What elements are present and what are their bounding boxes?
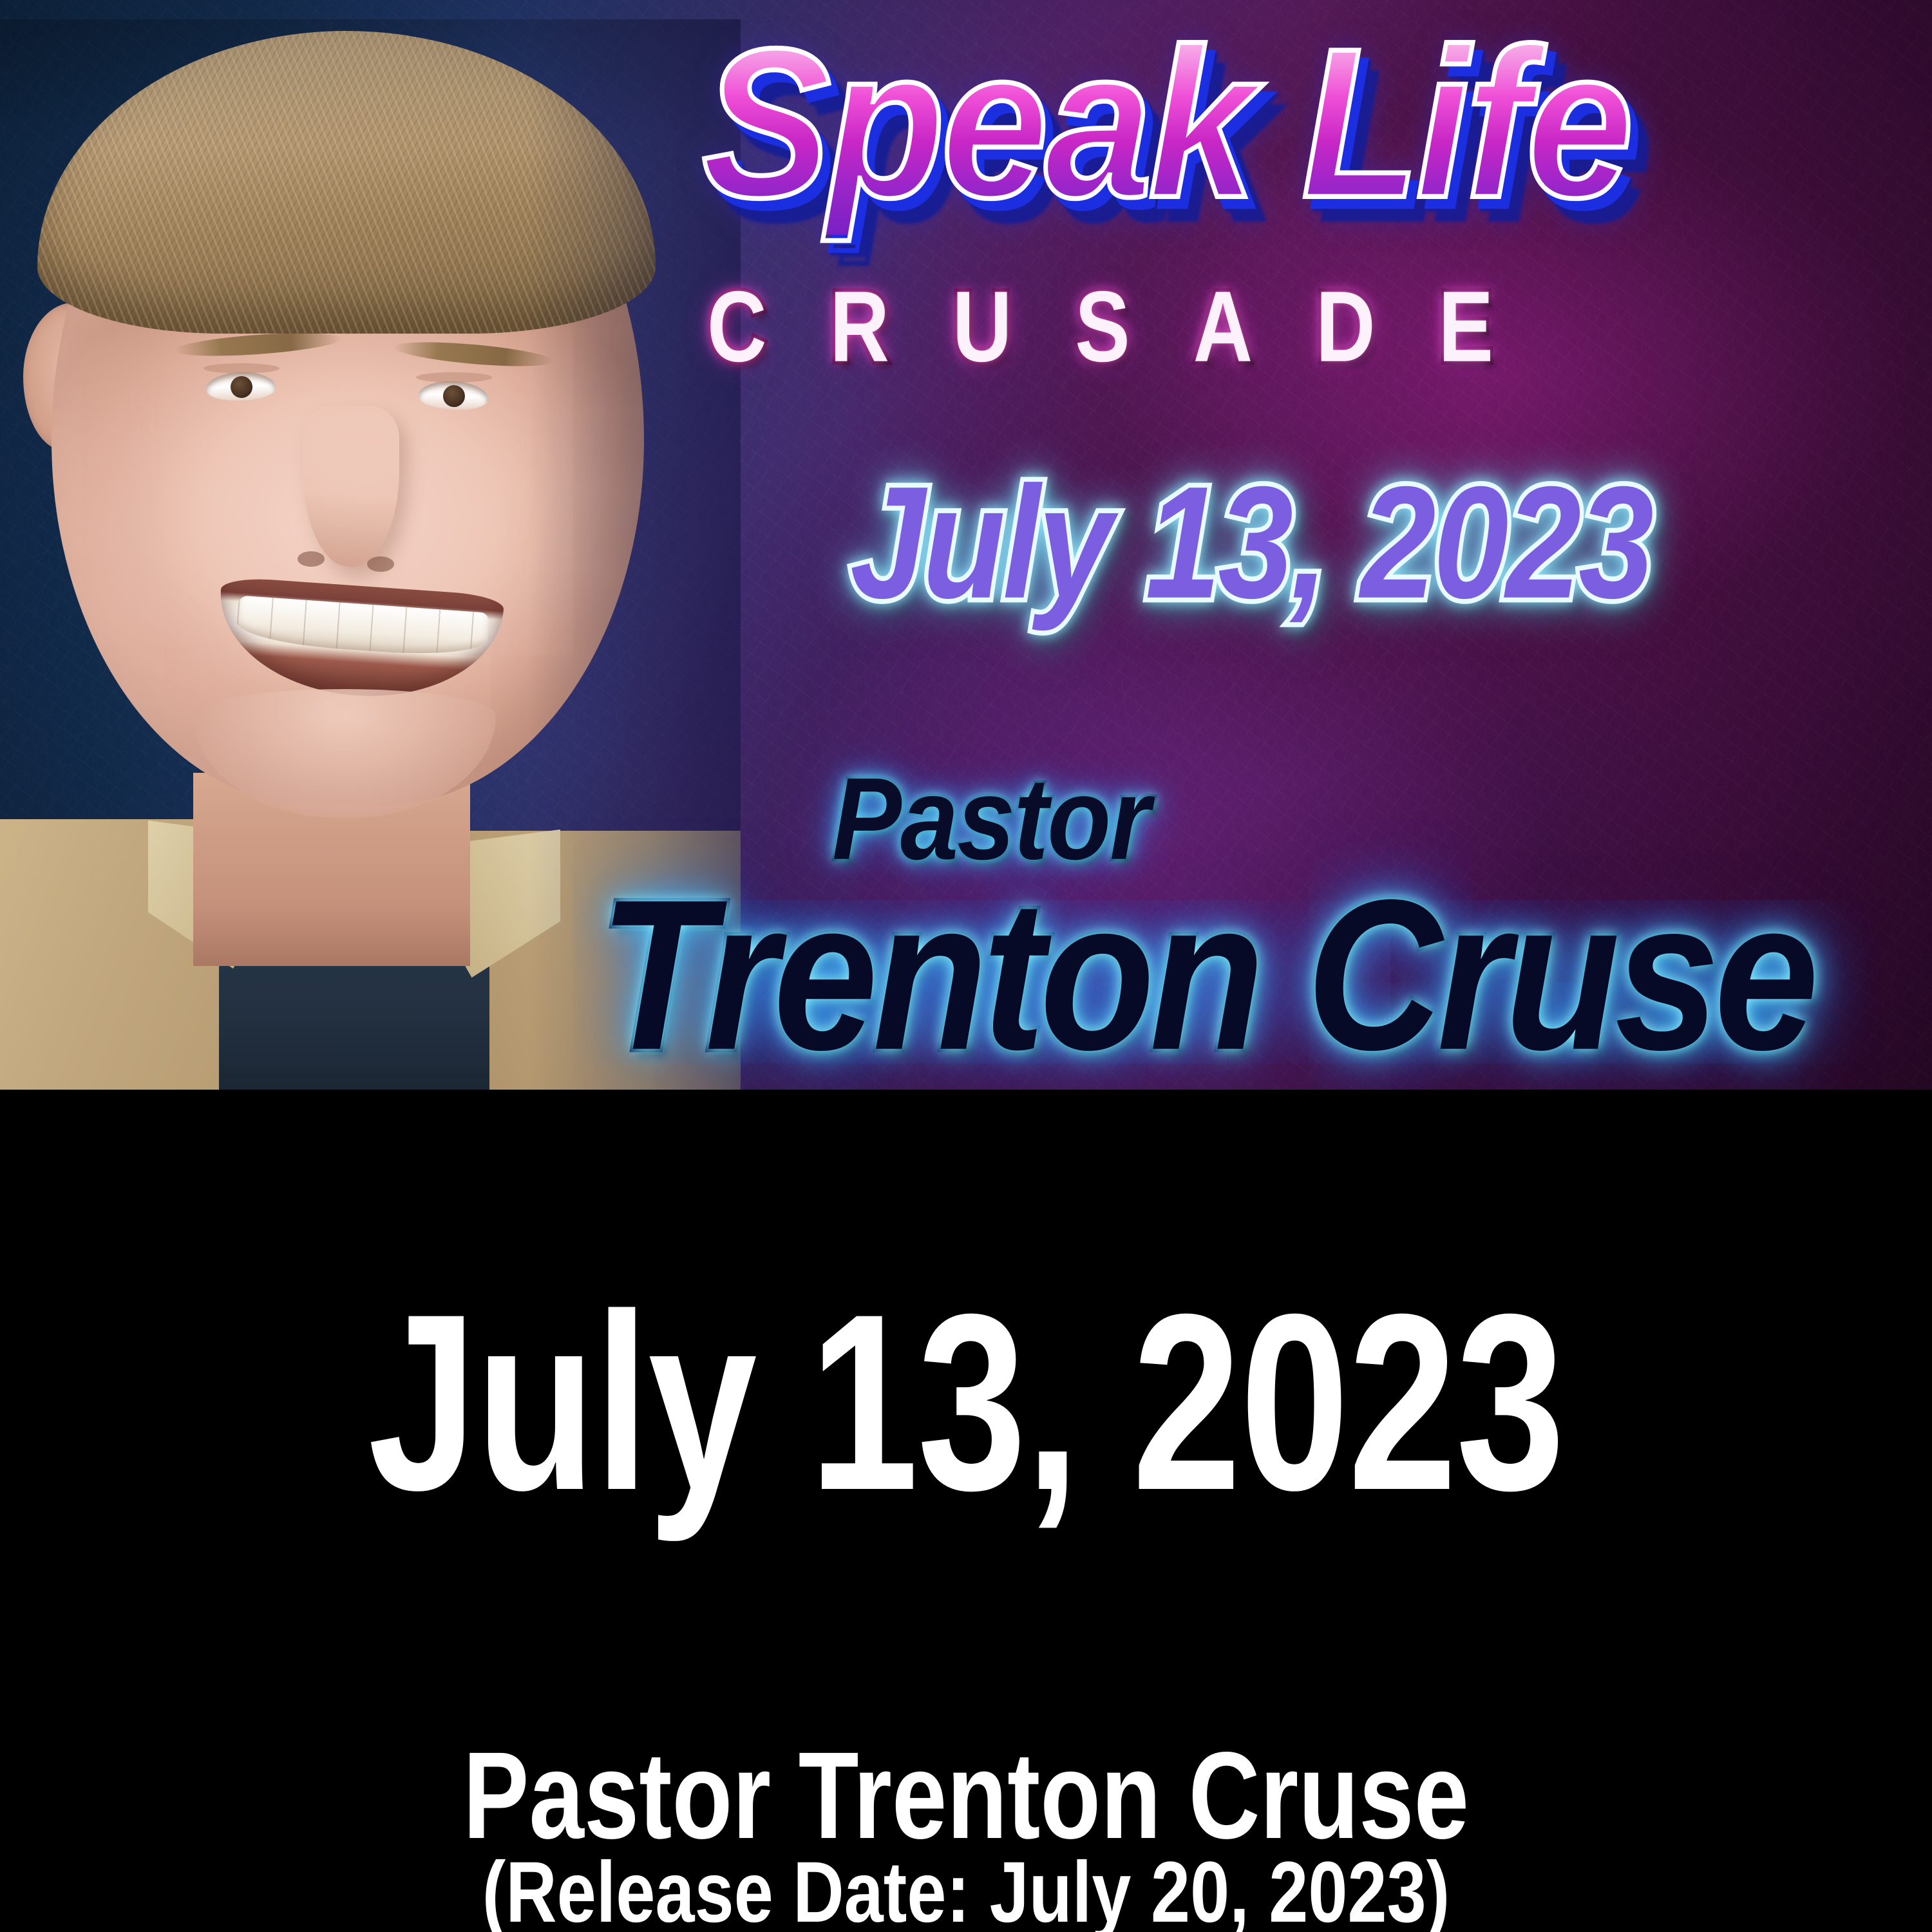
iris-left xyxy=(230,375,252,398)
iris-right xyxy=(442,384,466,408)
poster-logo-subtitle: CRUSADE xyxy=(707,269,1557,384)
eyelid-left xyxy=(204,363,279,374)
hair xyxy=(37,31,656,334)
caption-date: July 13, 2023 xyxy=(213,1276,1719,1528)
poster-event-date: July 13, 2023 xyxy=(850,451,1651,635)
caption-block: July 13, 2023 Pastor Trenton Cruse (Rele… xyxy=(0,1090,1932,1932)
nostril-left xyxy=(298,551,325,567)
nostril-right xyxy=(367,556,394,572)
caption-speaker: Pastor Trenton Cruse xyxy=(193,1734,1739,1857)
poster-speaker-name: Trenton Cruse xyxy=(599,851,1814,1090)
caption-release-date: (Release Date: July 20, 2023) xyxy=(174,1850,1758,1932)
poster-logo-title: Speak Life xyxy=(702,12,1926,235)
crusade-poster: Speak Life CRUSADE July 13, 2023 Pastor … xyxy=(0,0,1932,1090)
eyelid-right xyxy=(416,372,492,383)
video-thumbnail-canvas: Speak Life CRUSADE July 13, 2023 Pastor … xyxy=(0,0,1932,1932)
